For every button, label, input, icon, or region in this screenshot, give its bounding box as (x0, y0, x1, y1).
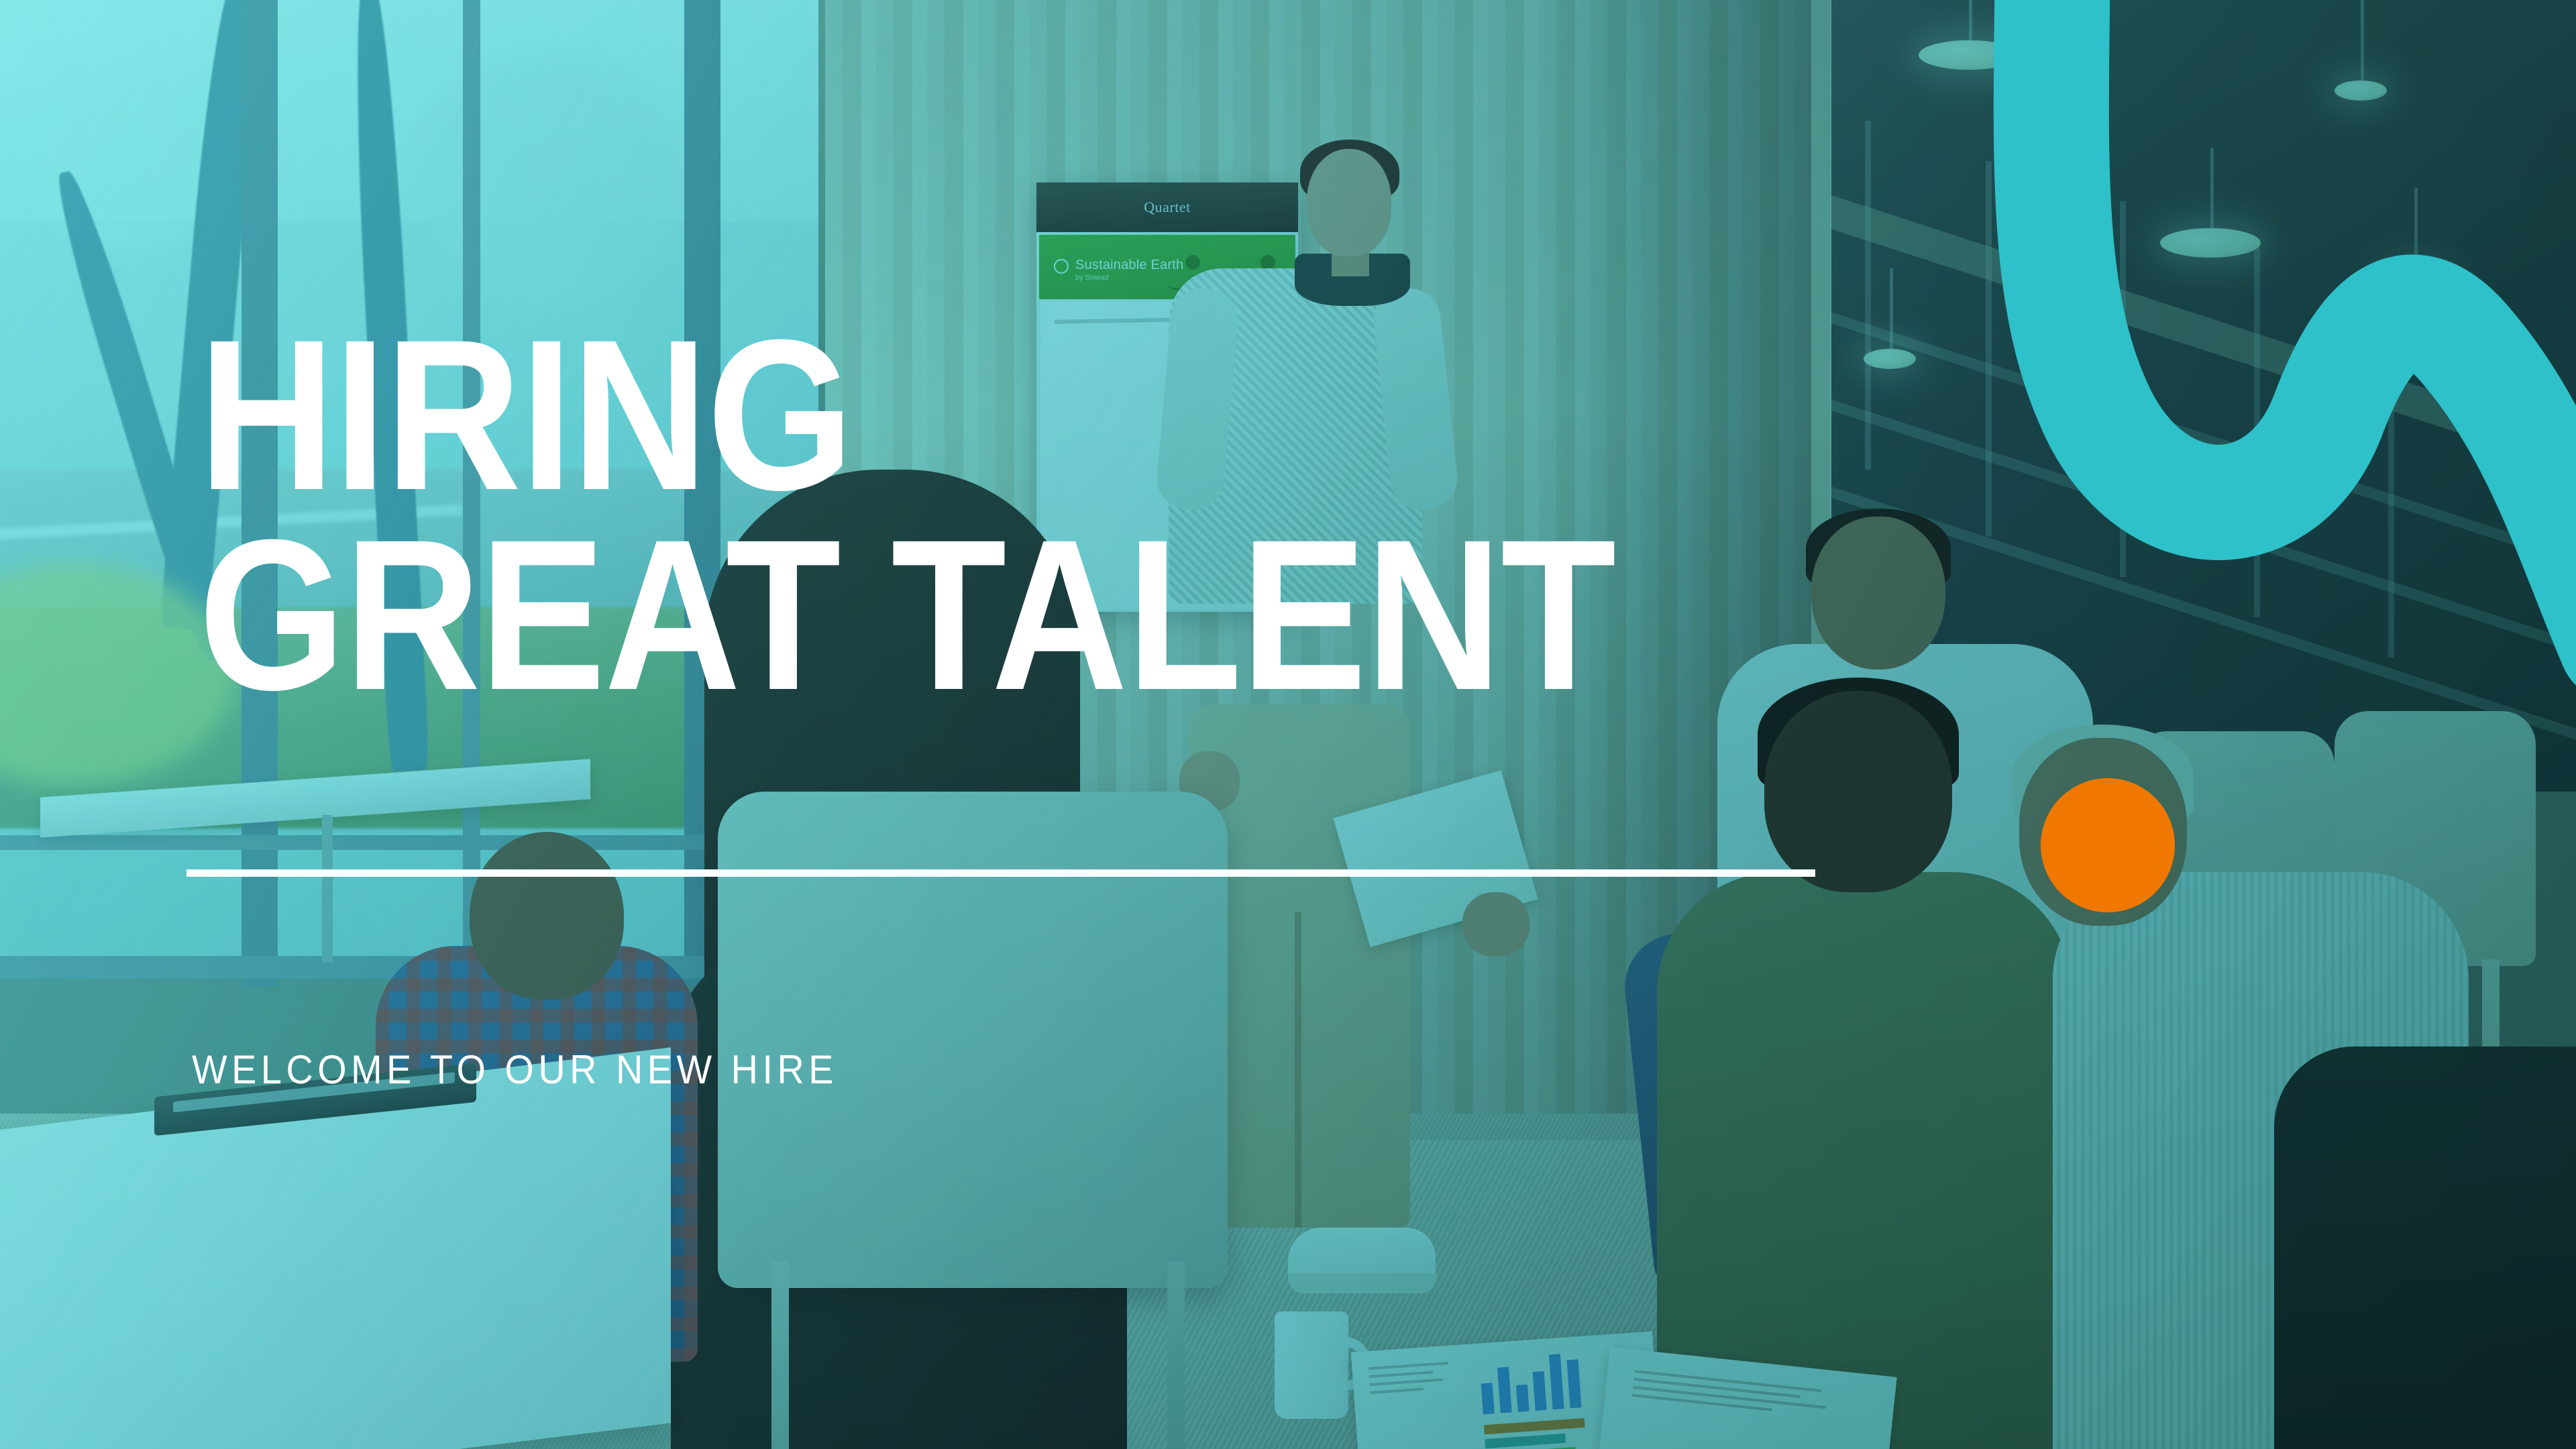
ceiling-lamp (2334, 80, 2387, 101)
poster-subtitle: WELCOME TO OUR NEW HIRE (192, 1046, 838, 1093)
poster-title-line-1: HIRING (199, 315, 1792, 515)
title-divider-rule (186, 869, 1815, 877)
foreground-chair (718, 792, 1228, 1288)
ceiling-lamp (2388, 268, 2440, 288)
poster-title-line-2: GREAT TALENT (199, 515, 1792, 715)
ceiling-lamp (2160, 228, 2261, 258)
ceiling-lamp (1919, 40, 2019, 70)
hiring-poster: Quartet Sustainable Earth by Smead (0, 0, 2576, 1449)
poster-text-block: HIRING GREAT TALENT WELCOME TO OUR NEW H… (199, 315, 2010, 714)
whiteboard-label: Sustainable Earth (1075, 258, 1183, 273)
whiteboard-brand-label: Quartet (1144, 199, 1190, 216)
coffee-mug (1275, 1311, 1348, 1419)
whiteboard-sublabel: by Smead (1075, 274, 1109, 282)
